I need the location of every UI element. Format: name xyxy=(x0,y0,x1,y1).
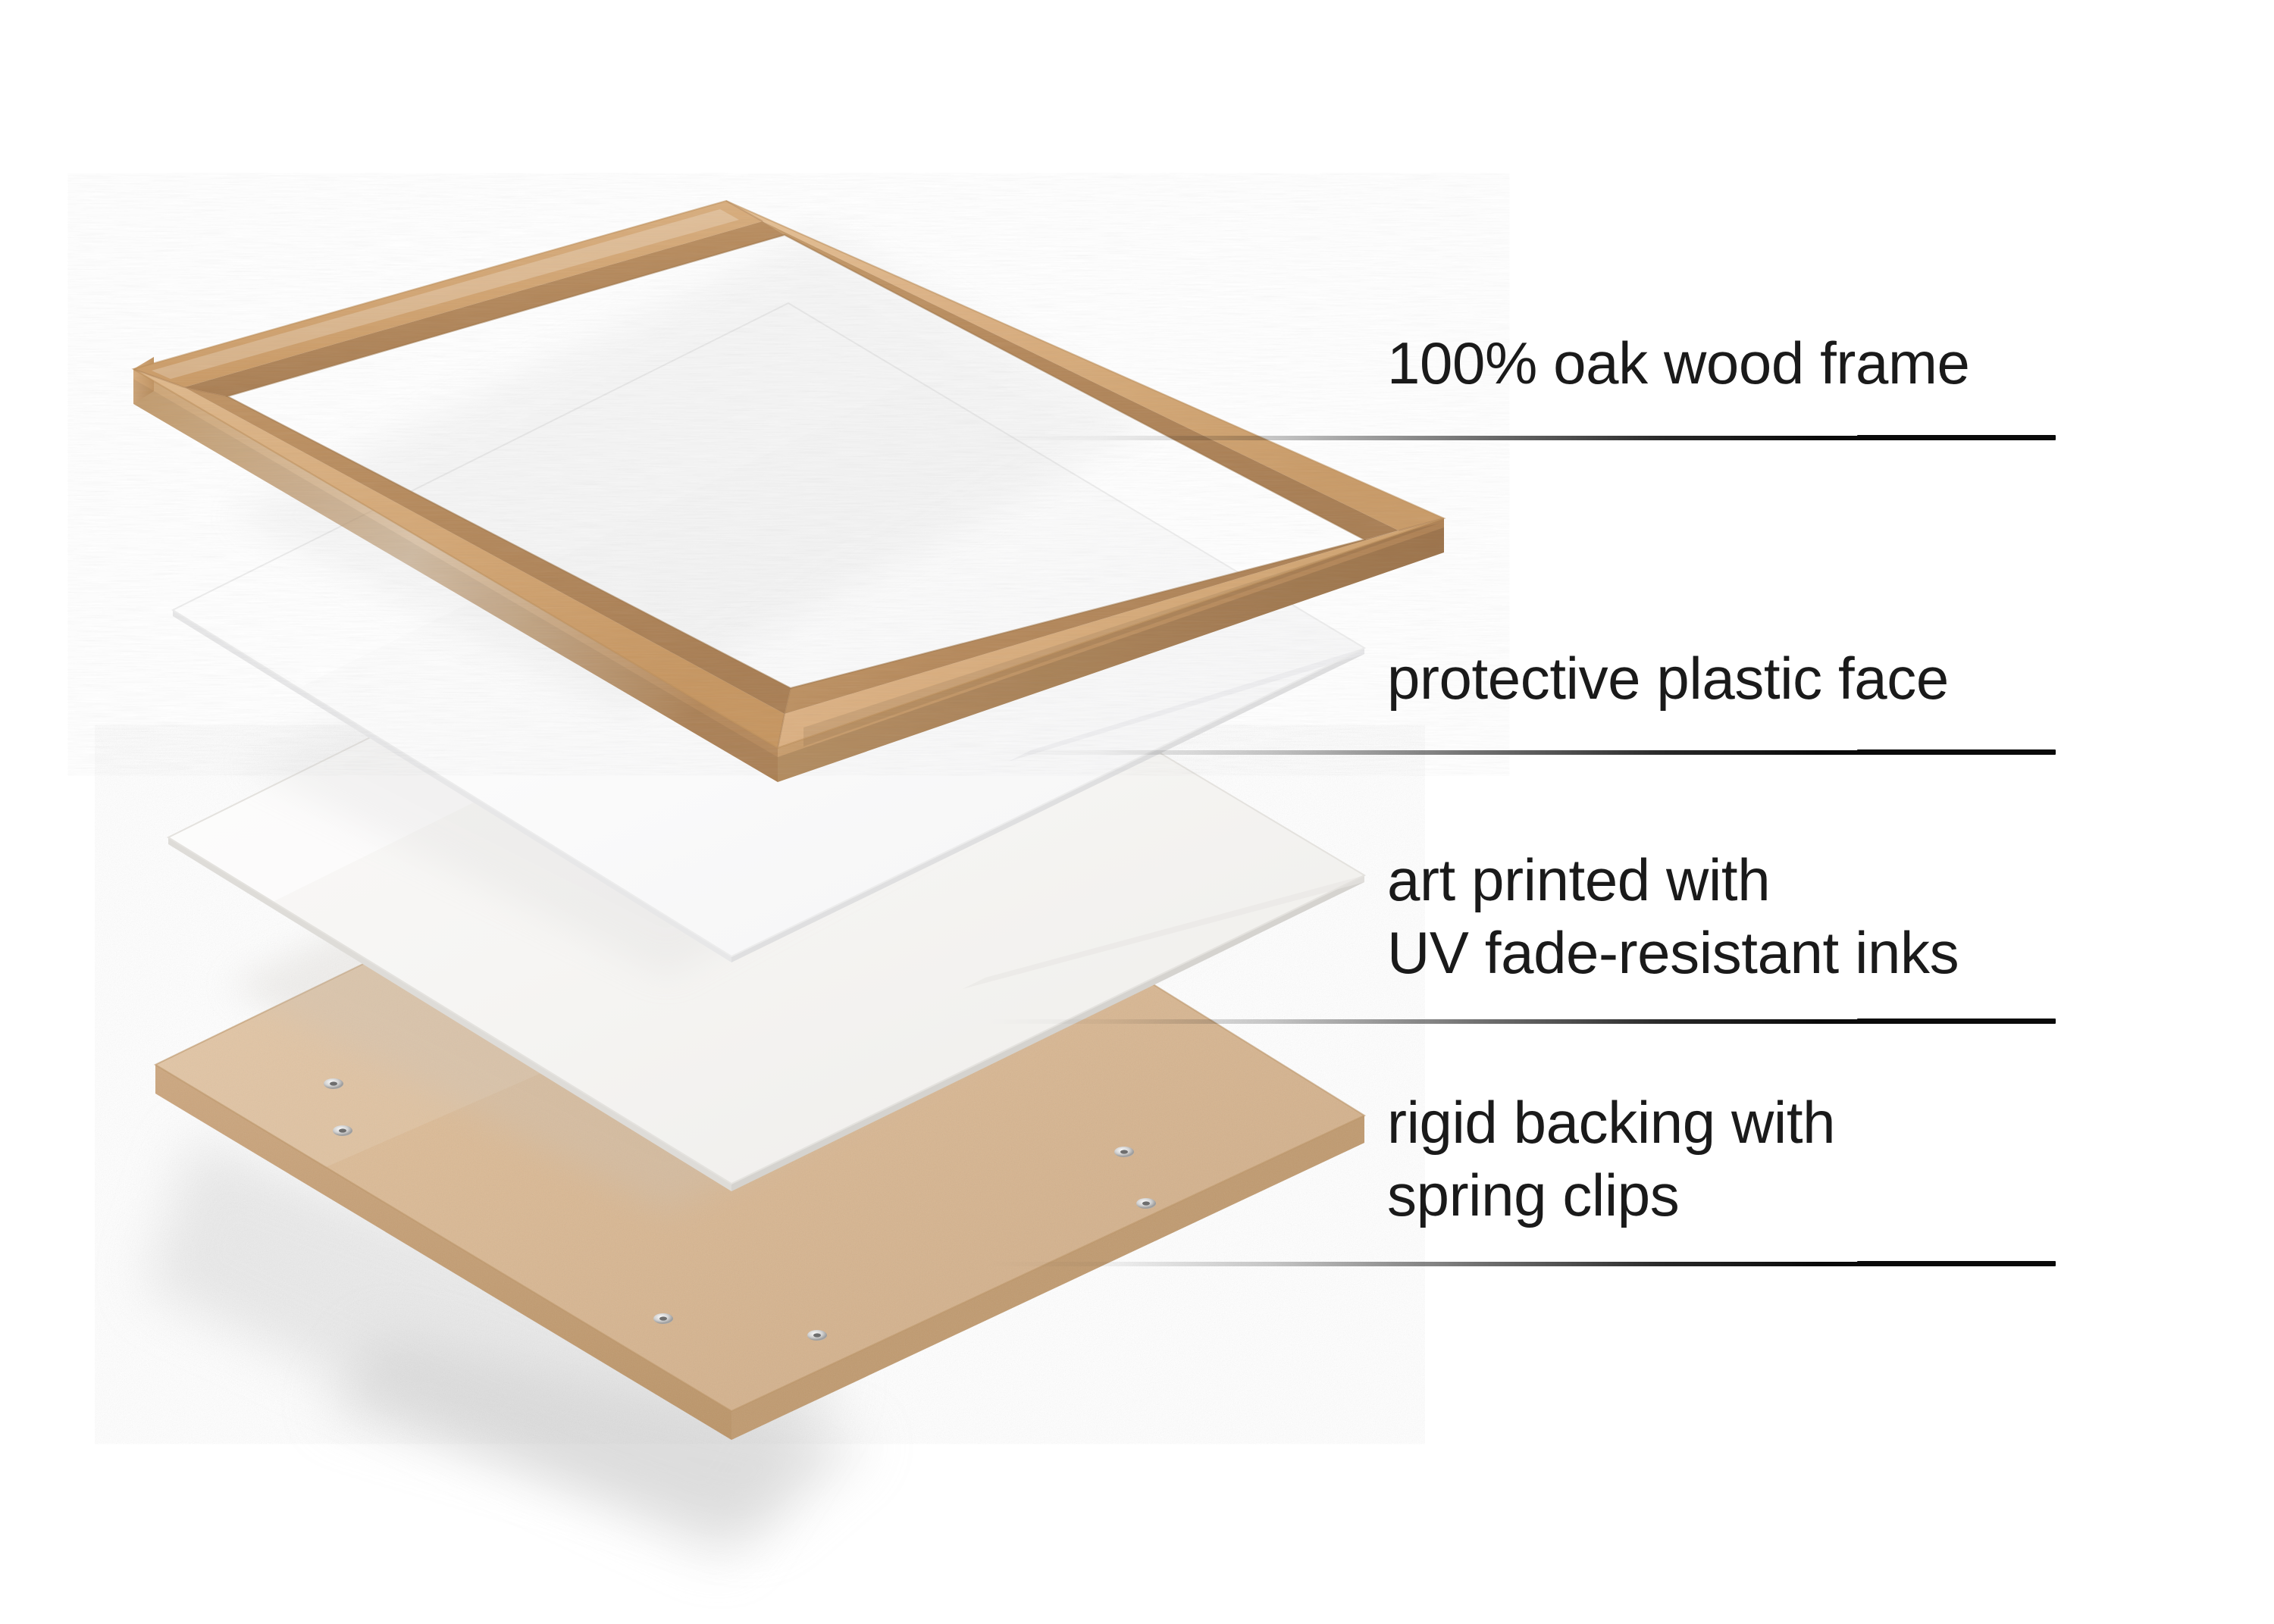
callout-label-print: art printed with UV fade-resistant inks xyxy=(1387,844,1959,990)
leader-line-plastic xyxy=(985,750,1933,755)
callout-label-backing: rigid backing with spring clips xyxy=(1387,1087,1835,1232)
leader-line-backing xyxy=(985,1262,1933,1266)
callout-text-line: UV fade-resistant inks xyxy=(1387,917,1959,990)
callout-rule-frame xyxy=(1857,435,2056,440)
callout-rule-print xyxy=(1857,1019,2056,1024)
callout-rule-backing xyxy=(1857,1261,2056,1266)
exploded-diagram-stage: 100% oak wood frame protective plastic f… xyxy=(0,0,2274,1624)
callout-rule-plastic xyxy=(1857,749,2056,755)
callout-text-line: 100% oak wood frame xyxy=(1387,327,1970,400)
callout-label-plastic: protective plastic face xyxy=(1387,643,1949,715)
callout-label-frame: 100% oak wood frame xyxy=(1387,327,1970,400)
product-exploded-illustration xyxy=(0,0,2274,1624)
leader-line-print xyxy=(985,1019,1933,1024)
callout-text-line: spring clips xyxy=(1387,1159,1835,1232)
leader-line-frame xyxy=(985,436,1933,440)
callout-text-line: rigid backing with xyxy=(1387,1087,1835,1159)
callout-text-line: art printed with xyxy=(1387,844,1959,917)
callout-text-line: protective plastic face xyxy=(1387,643,1949,715)
